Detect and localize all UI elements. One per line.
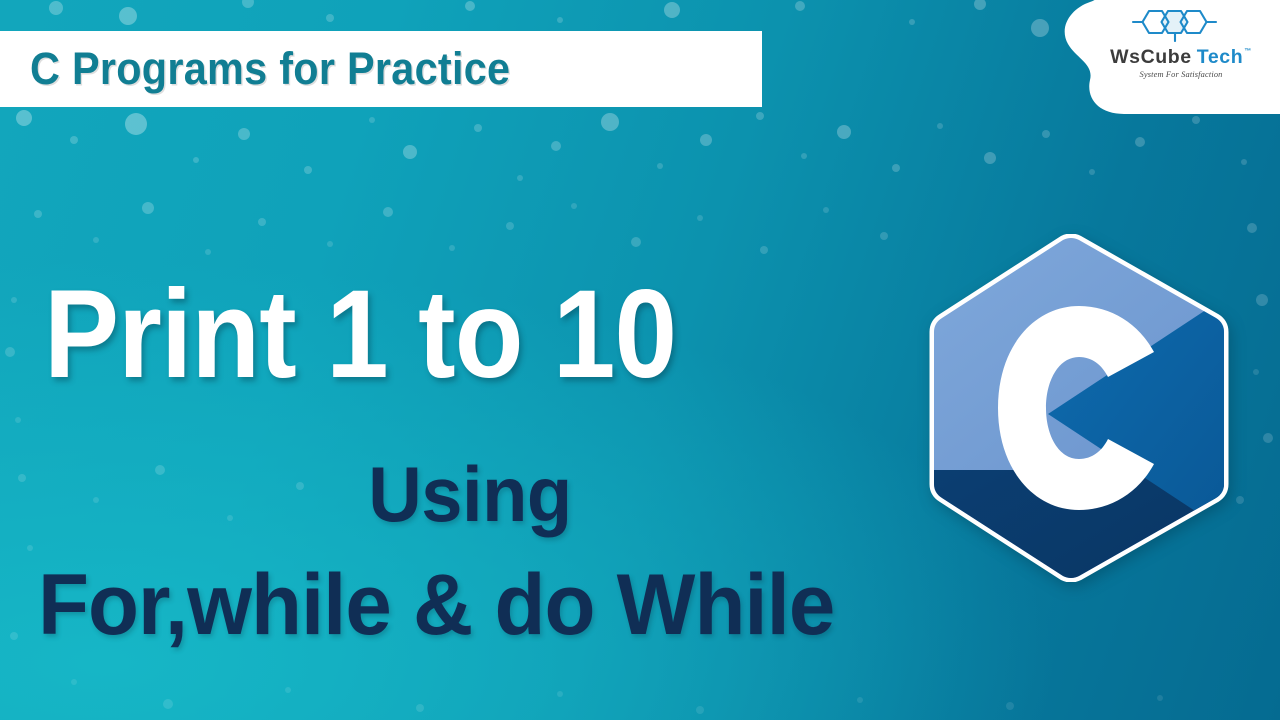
decorative-dot — [1135, 137, 1145, 147]
decorative-dot — [557, 691, 563, 697]
decorative-dot — [163, 699, 173, 709]
decorative-dot — [403, 145, 417, 159]
decorative-dot — [383, 207, 393, 217]
decorative-dot — [760, 246, 768, 254]
decorative-dot — [49, 1, 63, 15]
brand-logo: WsCube Tech ™ System For Satisfaction — [1088, 8, 1274, 100]
decorative-dot — [756, 112, 764, 120]
decorative-dot — [70, 136, 78, 144]
decorative-dot — [601, 113, 619, 131]
decorative-dot — [5, 347, 15, 357]
decorative-dot — [1263, 433, 1273, 443]
decorative-dot — [285, 687, 291, 693]
main-title: Print 1 to 10 — [44, 272, 676, 397]
decorative-dot — [664, 2, 680, 18]
decorative-dot — [11, 297, 17, 303]
decorative-dot — [304, 166, 312, 174]
decorative-dot — [34, 210, 42, 218]
subtitle-using: Using — [24, 455, 917, 533]
decorative-dot — [551, 141, 561, 151]
decorative-dot — [327, 241, 333, 247]
decorative-dot — [369, 117, 375, 123]
decorative-dot — [1031, 19, 1049, 37]
decorative-dot — [1247, 223, 1257, 233]
decorative-dot — [892, 164, 900, 172]
decorative-dot — [1192, 116, 1200, 124]
decorative-dot — [801, 153, 807, 159]
header-banner-label: C Programs for Practice — [30, 43, 510, 95]
decorative-dot — [125, 113, 147, 135]
brand-tagline: System For Satisfaction — [1139, 70, 1222, 79]
decorative-dot — [696, 706, 704, 714]
decorative-dot — [205, 249, 211, 255]
decorative-dot — [15, 417, 21, 423]
decorative-dot — [880, 232, 888, 240]
decorative-dot — [16, 110, 32, 126]
decorative-dot — [71, 679, 77, 685]
decorative-dot — [657, 163, 663, 169]
brand-name-primary: WsCube — [1110, 48, 1192, 68]
brand-wordmark: WsCube Tech ™ — [1110, 48, 1252, 68]
decorative-dot — [242, 0, 254, 8]
decorative-dot — [326, 14, 334, 22]
hexagon-molecule-icon — [1129, 8, 1233, 47]
decorative-dot — [571, 203, 577, 209]
decorative-dot — [857, 697, 863, 703]
decorative-dot — [258, 218, 266, 226]
decorative-dot — [631, 237, 641, 247]
video-thumbnail: C Programs for Practice WsCube Tech ™ Sy… — [0, 0, 1280, 720]
decorative-dot — [1253, 369, 1259, 375]
header-banner: C Programs for Practice — [0, 31, 762, 107]
decorative-dot — [506, 222, 514, 230]
decorative-dot — [937, 123, 943, 129]
decorative-dot — [449, 245, 455, 251]
decorative-dot — [1089, 169, 1095, 175]
decorative-dot — [909, 19, 915, 25]
decorative-dot — [119, 7, 137, 25]
decorative-dot — [416, 704, 424, 712]
decorative-dot — [1241, 159, 1247, 165]
decorative-dot — [697, 215, 703, 221]
decorative-dot — [10, 632, 18, 640]
decorative-dot — [795, 1, 805, 11]
brand-name-secondary: Tech — [1197, 48, 1243, 68]
trademark-symbol: ™ — [1244, 48, 1252, 55]
decorative-dot — [1006, 702, 1014, 710]
decorative-dot — [238, 128, 250, 140]
decorative-dot — [700, 134, 712, 146]
decorative-dot — [974, 0, 986, 10]
decorative-dot — [1256, 294, 1268, 306]
decorative-dot — [984, 152, 996, 164]
c-language-logo-icon — [928, 234, 1230, 582]
decorative-dot — [27, 545, 33, 551]
decorative-dot — [465, 1, 475, 11]
decorative-dot — [1236, 496, 1244, 504]
decorative-dot — [557, 17, 563, 23]
decorative-dot — [823, 207, 829, 213]
decorative-dot — [517, 175, 523, 181]
decorative-dot — [193, 157, 199, 163]
decorative-dot — [474, 124, 482, 132]
decorative-dot — [142, 202, 154, 214]
decorative-dot — [1157, 695, 1163, 701]
decorative-dot — [93, 237, 99, 243]
decorative-dot — [837, 125, 851, 139]
subtitle-loops: For,while & do While — [38, 562, 834, 648]
decorative-dot — [1042, 130, 1050, 138]
